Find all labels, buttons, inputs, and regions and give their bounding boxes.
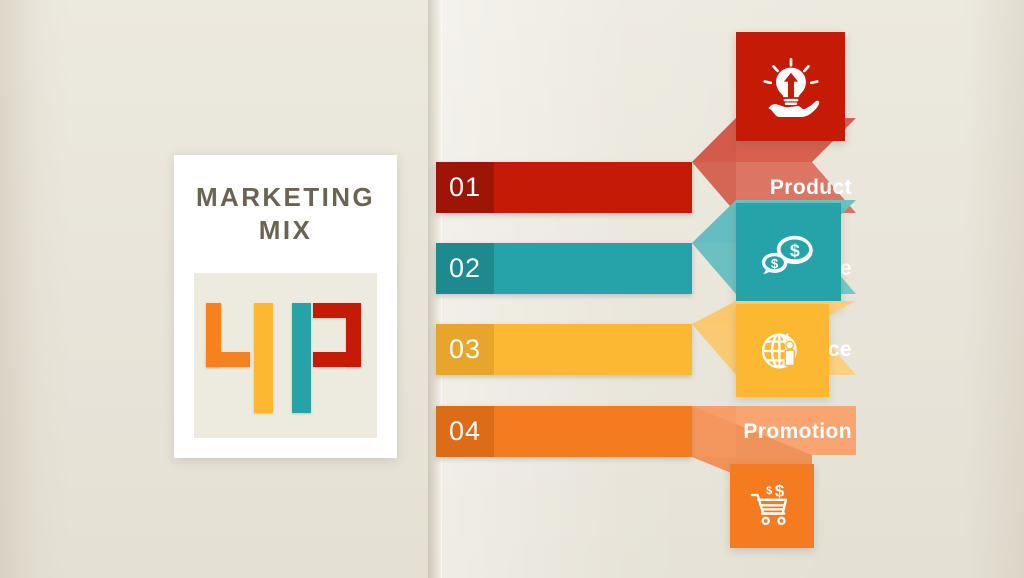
logo-plate <box>194 273 377 438</box>
marketing-mix-card: MARKETING MIX <box>174 155 397 458</box>
card-title: MARKETING MIX <box>174 181 397 248</box>
svg-text:$: $ <box>775 482 785 501</box>
shopping-cart-dollar-icon: $ $ <box>745 479 799 533</box>
icon-box-product[interactable] <box>736 32 845 141</box>
card-title-line2: MIX <box>174 214 397 247</box>
svg-text:$: $ <box>766 485 772 497</box>
item-number-promotion: 04 <box>436 406 494 457</box>
globe-person-icon <box>754 322 812 380</box>
svg-text:$: $ <box>789 240 799 260</box>
dollar-speech-bubbles-icon: $ $ <box>759 226 819 286</box>
icon-box-place[interactable] <box>736 304 829 397</box>
lightbulb-in-hand-icon <box>760 56 822 118</box>
logo-four-foot-stroke <box>206 352 250 367</box>
item-number-place: 03 <box>436 324 494 375</box>
icon-box-price[interactable]: $ $ <box>736 203 841 308</box>
item-label-promotion: Promotion <box>654 406 852 457</box>
logo-p-stem <box>292 303 311 413</box>
infographic-canvas: MARKETING MIX <box>0 0 1024 578</box>
logo-four-stem <box>254 303 273 413</box>
icon-box-promotion[interactable]: $ $ <box>730 464 814 548</box>
item-row-promotion[interactable]: 04 Promotion $ $ <box>436 406 856 457</box>
logo-p-bowl-bottom <box>313 352 361 367</box>
item-row-price[interactable]: 02 Price $ $ <box>436 243 856 294</box>
item-number-price: 02 <box>436 243 494 294</box>
background-left-shadow <box>0 0 70 578</box>
card-title-line1: MARKETING <box>174 181 397 214</box>
svg-text:$: $ <box>770 255 778 270</box>
item-row-place[interactable]: 03 Place <box>436 324 856 375</box>
